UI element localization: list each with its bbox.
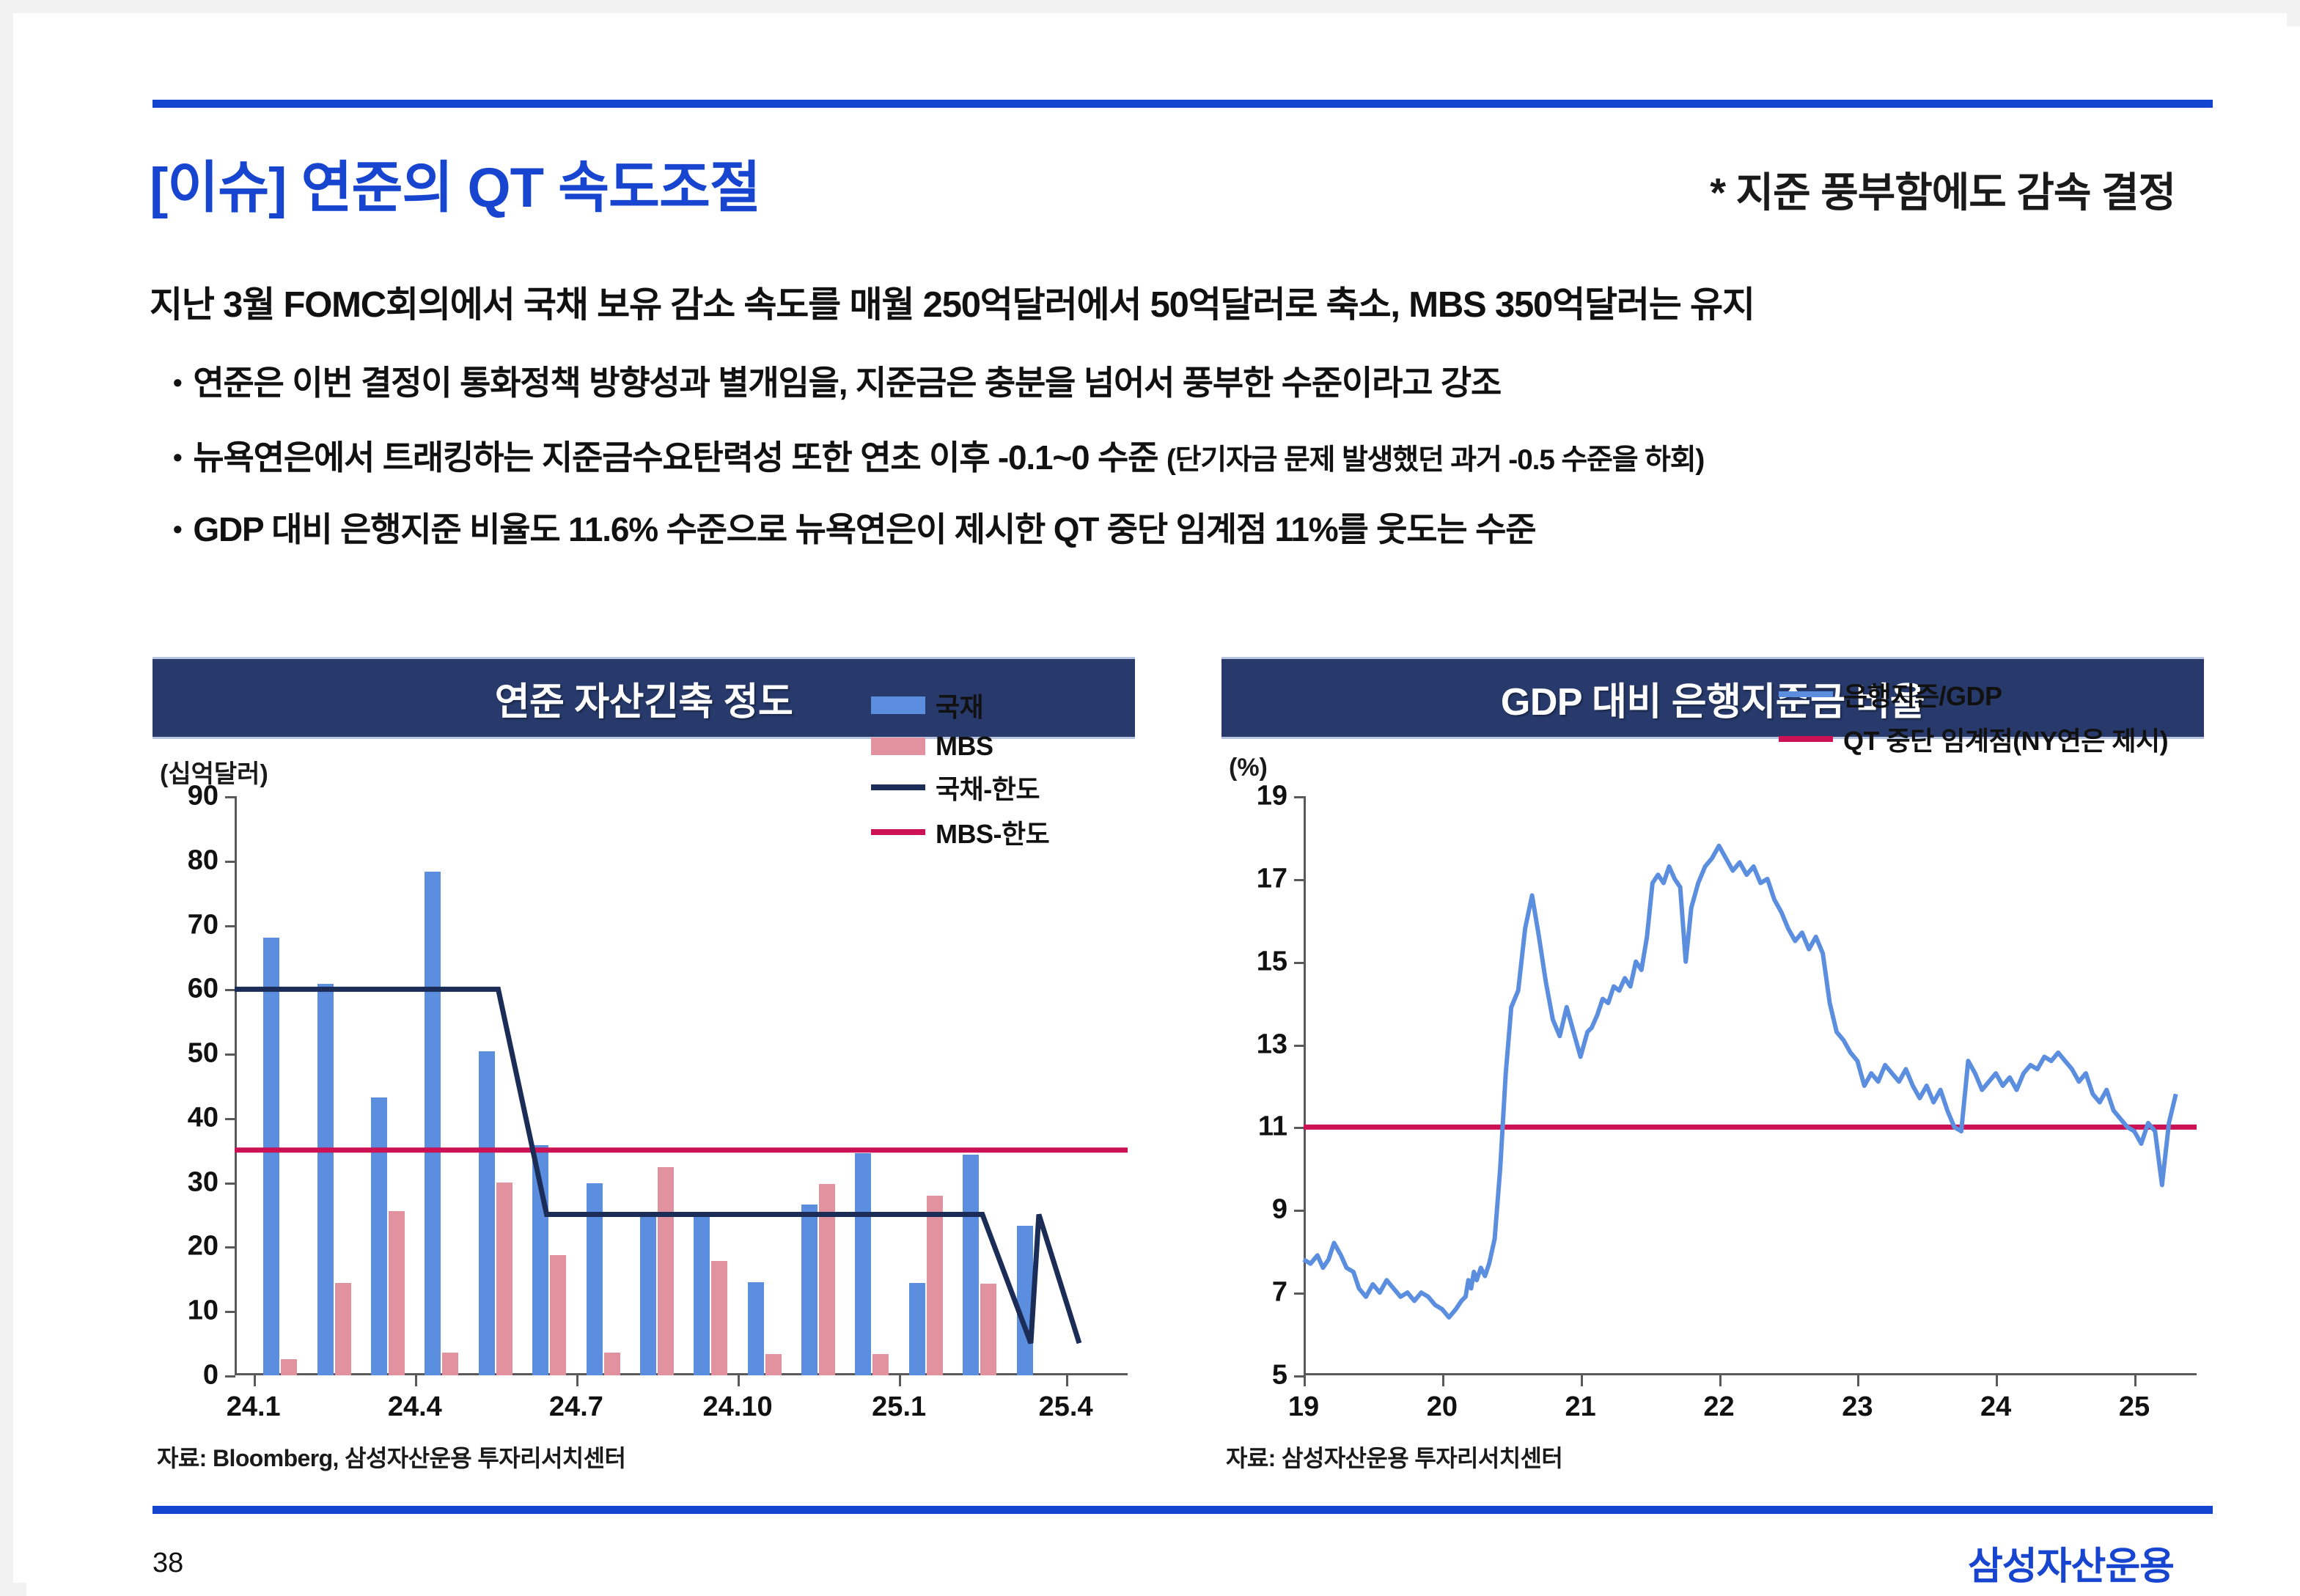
chart-panel-right: GDP 대비 은행지준금 비율 (%) 은행지즌/GDP QT 중단 임계점(N… (1221, 657, 2204, 1478)
right-x-tick-label: 21 (1565, 1391, 1596, 1423)
bullet-item-3: •GDP 대비 은행지준 비율도 11.6% 수준으로 뉴욕연은이 제시한 QT… (173, 503, 1535, 551)
left-y-tick-label: 30 (188, 1166, 218, 1198)
bullet-marker-2: • (173, 442, 181, 472)
right-x-tick (1304, 1375, 1306, 1386)
left-chart-source: 자료: Bloomberg, 삼성자산운용 투자리서치센터 (157, 1440, 625, 1474)
left-x-tick (415, 1375, 417, 1386)
left-x-tick-label: 24.1 (227, 1391, 281, 1423)
bullet-marker-3: • (173, 514, 181, 544)
left-y-tick (225, 796, 235, 798)
left-y-tick-label: 90 (188, 781, 218, 812)
legend-swatch-reserves-gdp (1779, 691, 1833, 697)
legend-row-mbs: MBS (871, 731, 1049, 762)
left-y-tick (225, 1375, 235, 1378)
left-x-tick (738, 1375, 740, 1386)
page-number: 38 (153, 1548, 183, 1579)
left-y-tick (225, 1053, 235, 1056)
header-note: * 지준 풍부함에도 감속 결정 (1710, 160, 2175, 219)
legend-label-reserves-gdp: 은행지즌/GDP (1843, 675, 2002, 713)
left-chart-title: 연준 자산긴축 정도 (495, 671, 793, 726)
right-y-tick (1294, 1045, 1304, 1047)
right-chart-series (1304, 796, 2197, 1375)
legend-swatch-gov-cap (871, 784, 925, 790)
right-y-tick-label: 5 (1272, 1360, 1287, 1391)
left-x-tick-label: 25.4 (1039, 1391, 1093, 1423)
bullet-text-3: GDP 대비 은행지준 비율도 11.6% 수준으로 뉴욕연은이 제시한 QT … (193, 510, 1535, 548)
right-y-tick (1294, 1375, 1304, 1378)
right-chart-unit: (%) (1229, 754, 1268, 782)
left-y-tick-label: 80 (188, 845, 218, 876)
bullet-subtext-2: (단기자금 문제 발생했던 과거 -0.5 수준을 하회) (1166, 444, 1704, 476)
right-x-tick-label: 24 (1980, 1391, 2011, 1423)
brand-logo: 삼성자산운용 (1968, 1535, 2174, 1590)
bullet-marker-1: • (173, 367, 181, 397)
footer-divider (153, 1506, 2213, 1514)
left-y-tick (225, 1246, 235, 1249)
legend-swatch-mbs (871, 738, 925, 755)
slide-outer-frame: [이슈] 연준의 QT 속도조절 * 지준 풍부함에도 감속 결정 지난 3월 … (0, 0, 2300, 1596)
right-y-tick (1294, 1292, 1304, 1295)
right-y-tick (1294, 962, 1304, 964)
limit-line-gov-bond (235, 989, 1079, 1343)
right-x-tick (1442, 1375, 1444, 1386)
left-y-tick (225, 1311, 235, 1313)
right-x-tick-label: 22 (1703, 1391, 1734, 1423)
right-y-tick-label: 15 (1257, 946, 1287, 977)
left-y-tick-label: 0 (203, 1360, 218, 1391)
right-x-tick-label: 20 (1427, 1391, 1458, 1423)
right-x-tick (1581, 1375, 1583, 1386)
reserves-gdp-line (1304, 846, 2176, 1317)
legend-row-gov-bond: 국재 (871, 686, 1049, 724)
left-y-tick-label: 10 (188, 1295, 218, 1327)
header-divider (153, 100, 2213, 108)
right-y-tick (1294, 796, 1304, 798)
bullet-text-2: 뉴욕연은에서 트래킹하는 지준금수요탄력성 또한 연초 이후 -0.1~0 수준 (193, 438, 1166, 477)
lead-paragraph: 지난 3월 FOMC회의에서 국채 보유 감소 속도를 매월 250억달러에서 … (150, 276, 1755, 328)
left-x-tick (576, 1375, 578, 1386)
left-y-tick (225, 861, 235, 863)
right-x-tick (2134, 1375, 2136, 1386)
left-x-tick-label: 24.7 (549, 1391, 603, 1423)
right-y-tick-label: 13 (1257, 1029, 1287, 1060)
right-x-tick-label: 23 (1842, 1391, 1873, 1423)
left-x-tick-label: 24.4 (388, 1391, 442, 1423)
right-chart-source: 자료: 삼성자산운용 투자리서치센터 (1226, 1440, 1562, 1474)
legend-label-mbs: MBS (936, 731, 993, 762)
left-x-tick (1066, 1375, 1068, 1386)
right-x-tick (1857, 1375, 1859, 1386)
left-x-tick-label: 25.1 (872, 1391, 926, 1423)
slide-canvas: [이슈] 연준의 QT 속도조절 * 지준 풍부함에도 감속 결정 지난 3월 … (26, 26, 2300, 1596)
left-y-tick-label: 40 (188, 1102, 218, 1133)
bullet-item-2: •뉴욕연은에서 트래킹하는 지준금수요탄력성 또한 연초 이후 -0.1~0 수… (173, 431, 1704, 479)
right-y-tick-label: 9 (1272, 1194, 1287, 1226)
left-y-tick (225, 1183, 235, 1185)
right-y-tick (1294, 879, 1304, 881)
right-x-tick (1719, 1375, 1722, 1386)
legend-label-gov-bond: 국재 (936, 686, 983, 724)
left-x-tick (899, 1375, 901, 1386)
chart-panel-left: 연준 자산긴축 정도 (십억달러) 국재 MBS 국채-한도 MBS-한도 (153, 657, 1135, 1478)
left-x-tick (254, 1375, 256, 1386)
left-chart-limit-lines (235, 796, 1128, 1375)
left-chart-plot: 010203040506070809024.124.424.724.1025.1… (235, 796, 1128, 1375)
left-chart-plot-inner: 010203040506070809024.124.424.724.1025.1… (235, 796, 1128, 1375)
right-chart-legend: 은행지즌/GDP QT 중단 임계점(NY연은 제시) (1779, 675, 2168, 758)
right-chart-plot-inner: 579111315171919202122232425 (1304, 796, 2197, 1375)
right-y-tick (1294, 1127, 1304, 1129)
right-y-tick-label: 17 (1257, 863, 1287, 894)
right-x-tick-label: 19 (1288, 1391, 1319, 1423)
right-y-tick-label: 11 (1258, 1111, 1287, 1143)
left-y-tick-label: 20 (188, 1231, 218, 1262)
bullet-text-1: 연준은 이번 결정이 통화정책 방향성과 별개임을, 지준금은 충분을 넘어서 … (193, 364, 1501, 402)
legend-row-qt-threshold: QT 중단 임계점(NY연은 제시) (1779, 720, 2168, 758)
right-x-tick (1996, 1375, 1998, 1386)
legend-row-reserves-gdp: 은행지즌/GDP (1779, 675, 2168, 713)
right-chart-plot: 579111315171919202122232425 (1304, 796, 2197, 1375)
bullet-item-1: •연준은 이번 결정이 통화정책 방향성과 별개임을, 지준금은 충분을 넘어서… (173, 356, 1501, 405)
left-y-tick-label: 60 (188, 974, 218, 1005)
left-y-tick (225, 1118, 235, 1120)
legend-swatch-gov-bond (871, 696, 925, 714)
left-x-tick-label: 24.10 (702, 1391, 772, 1423)
page-title: [이슈] 연준의 QT 속도조절 (150, 142, 760, 223)
left-y-tick (225, 925, 235, 927)
right-x-tick-label: 25 (2119, 1391, 2150, 1423)
right-y-tick (1294, 1210, 1304, 1212)
left-y-tick-label: 70 (188, 909, 218, 941)
right-y-tick-label: 19 (1257, 781, 1287, 812)
left-y-tick (225, 989, 235, 991)
legend-swatch-qt-threshold (1779, 736, 1833, 742)
right-y-tick-label: 7 (1272, 1277, 1287, 1309)
left-y-tick-label: 50 (188, 1038, 218, 1070)
legend-label-qt-threshold: QT 중단 임계점(NY연은 제시) (1843, 720, 2168, 758)
